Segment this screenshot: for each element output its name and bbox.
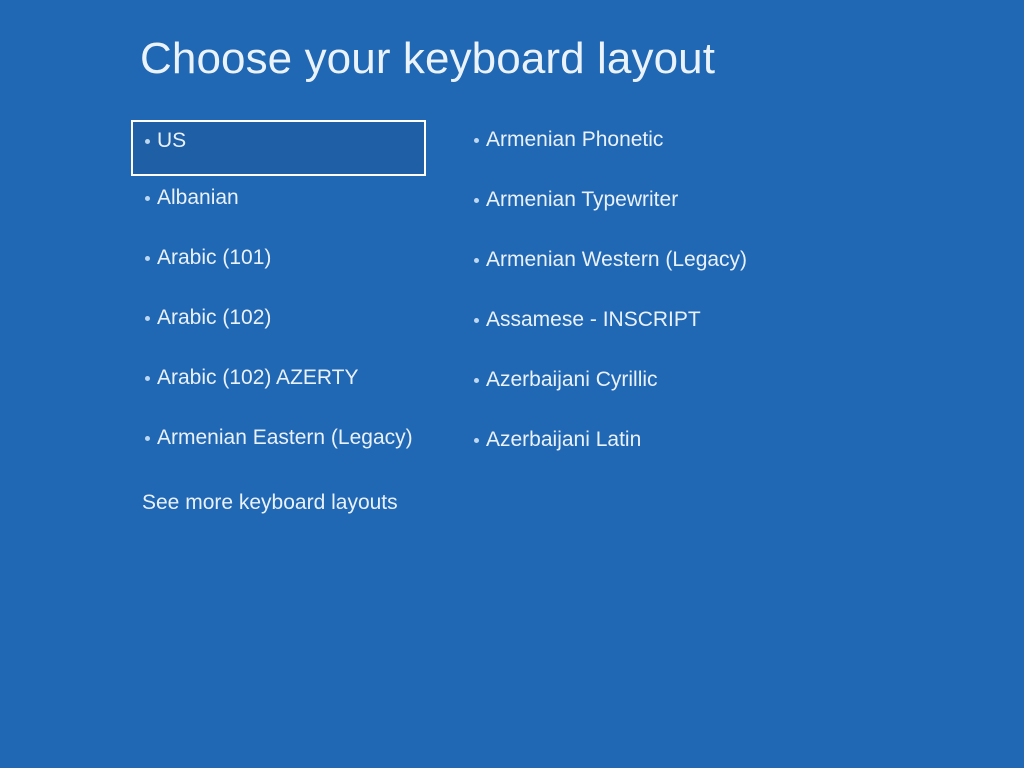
layout-option-us[interactable]: US — [131, 120, 426, 176]
page-title: Choose your keyboard layout — [140, 34, 715, 85]
bullet-icon — [474, 138, 479, 143]
layout-option-armenian-eastern-legacy[interactable]: Armenian Eastern (Legacy) — [131, 416, 461, 476]
keyboard-layout-screen: Choose your keyboard layout US Albanian … — [0, 0, 1024, 768]
layout-option-label: Armenian Western (Legacy) — [486, 249, 747, 270]
layout-option-label: US — [157, 130, 186, 151]
layout-option-albanian[interactable]: Albanian — [131, 176, 461, 236]
layout-option-azerbaijani-cyrillic[interactable]: Azerbaijani Cyrillic — [460, 358, 890, 418]
bullet-icon — [145, 139, 150, 144]
right-column: Armenian Phonetic Armenian Typewriter Ar… — [460, 118, 890, 478]
layout-option-assamese-inscript[interactable]: Assamese - INSCRIPT — [460, 298, 890, 358]
layout-option-label: Armenian Eastern (Legacy) — [157, 427, 413, 448]
layout-option-armenian-phonetic[interactable]: Armenian Phonetic — [460, 118, 890, 178]
layout-option-azerbaijani-latin[interactable]: Azerbaijani Latin — [460, 418, 890, 478]
bullet-icon — [145, 376, 150, 381]
layout-option-label: Arabic (102) AZERTY — [157, 367, 359, 388]
see-more-keyboard-layouts-link[interactable]: See more keyboard layouts — [142, 492, 398, 513]
bullet-icon — [474, 378, 479, 383]
layout-option-label: Albanian — [157, 187, 239, 208]
layout-option-arabic-102[interactable]: Arabic (102) — [131, 296, 461, 356]
layout-option-label: Armenian Typewriter — [486, 189, 678, 210]
layout-option-label: Arabic (102) — [157, 307, 271, 328]
bullet-icon — [145, 316, 150, 321]
layout-option-arabic-102-azerty[interactable]: Arabic (102) AZERTY — [131, 356, 461, 416]
layout-option-label: Arabic (101) — [157, 247, 271, 268]
bullet-icon — [145, 436, 150, 441]
layout-option-armenian-typewriter[interactable]: Armenian Typewriter — [460, 178, 890, 238]
layout-option-arabic-101[interactable]: Arabic (101) — [131, 236, 461, 296]
bullet-icon — [474, 258, 479, 263]
layout-option-label: Armenian Phonetic — [486, 129, 663, 150]
bullet-icon — [474, 318, 479, 323]
layout-option-label: Azerbaijani Cyrillic — [486, 369, 658, 390]
bullet-icon — [474, 438, 479, 443]
left-column: US Albanian Arabic (101) Arabic (102) Ar… — [131, 118, 461, 476]
bullet-icon — [145, 196, 150, 201]
bullet-icon — [474, 198, 479, 203]
bullet-icon — [145, 256, 150, 261]
layout-option-label: Azerbaijani Latin — [486, 429, 641, 450]
layout-option-armenian-western-legacy[interactable]: Armenian Western (Legacy) — [460, 238, 890, 298]
layout-option-label: Assamese - INSCRIPT — [486, 309, 701, 330]
